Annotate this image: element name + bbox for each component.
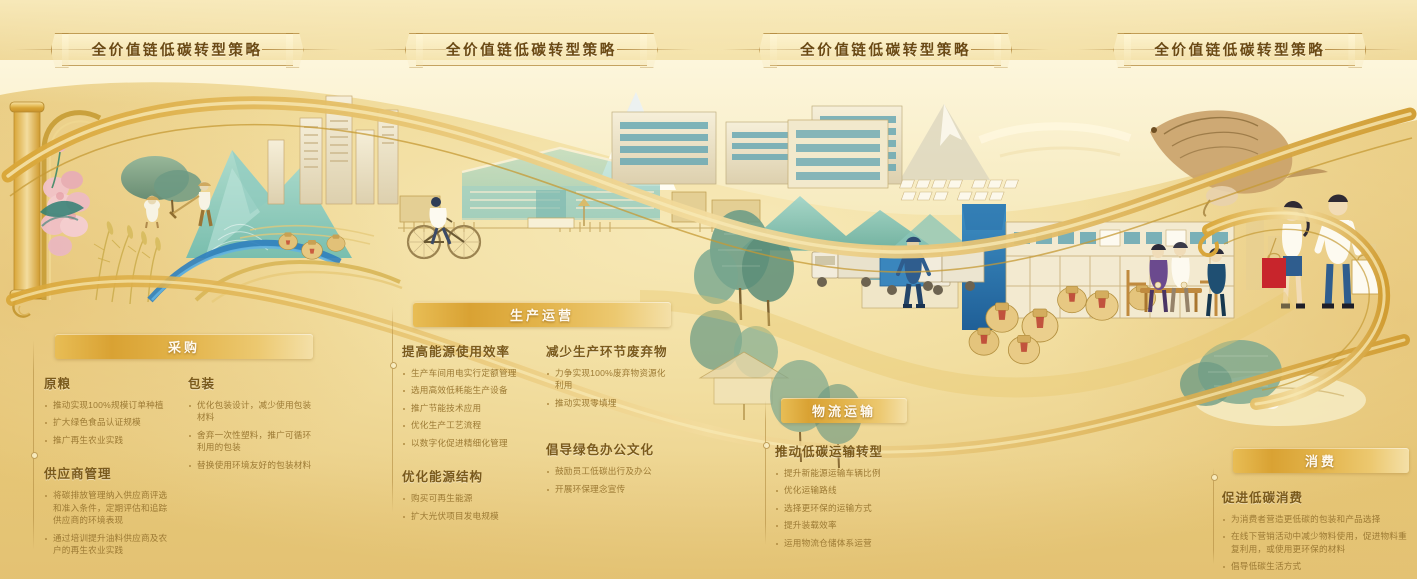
list-item: 开展环保理念宣传 bbox=[546, 483, 674, 495]
section-production: 生产运营 提高能源使用效率 生产车间用电实行定额管理 选用高效低耗能生产设备 推… bbox=[402, 302, 674, 527]
production-list-2: 力争实现100%废弃物资源化利用 推动实现零填埋 bbox=[546, 367, 674, 409]
header-plaque-4: 全价值链低碳转型策略 bbox=[1063, 28, 1417, 70]
header-plaque-label-1: 全价值链低碳转型策略 bbox=[62, 33, 293, 66]
section-logistics: 物流运输 推动低碳运输转型 提升新能源运输车辆比例 优化运输路线 选择更环保的运… bbox=[775, 398, 987, 554]
procurement-column-left: 原粮 推动实现100%规模订单种植 扩大绿色食品认证规模 推广再生农业实践 供应… bbox=[44, 373, 172, 562]
list-item: 在线下营销活动中减少物料使用，促进物料重复利用，或使用更环保的材料 bbox=[1222, 530, 1412, 555]
consumption-group-heading-0: 促进低碳消费 bbox=[1222, 487, 1412, 506]
production-list-1: 购买可再生能源 扩大光伏项目发电规模 bbox=[402, 492, 530, 522]
logistics-group-heading-0: 推动低碳运输转型 bbox=[775, 441, 987, 460]
production-rail bbox=[392, 306, 393, 512]
list-item: 替换使用环境友好的包装材料 bbox=[188, 459, 316, 471]
consumption-column: 促进低碳消费 为消费者营造更低碳的包装和产品选择 在线下营销活动中减少物料使用，… bbox=[1222, 487, 1412, 578]
header-plaque-2: 全价值链低碳转型策略 bbox=[354, 28, 708, 70]
list-item: 优化运输路线 bbox=[775, 484, 987, 496]
logistics-column: 推动低碳运输转型 提升新能源运输车辆比例 优化运输路线 选择更环保的运输方式 提… bbox=[775, 441, 987, 554]
farm-scene bbox=[121, 156, 211, 228]
production-columns: 提高能源使用效率 生产车间用电实行定额管理 选用高效低耗能生产设备 推广节能技术… bbox=[402, 341, 674, 527]
production-group-heading-0: 提高能源使用效率 bbox=[402, 341, 530, 360]
procurement-group-heading-2: 供应商管理 bbox=[44, 463, 172, 482]
consumption-title: 消费 bbox=[1305, 451, 1337, 470]
production-group-heading-1: 优化能源结构 bbox=[402, 466, 530, 485]
list-item: 推广再生农业实践 bbox=[44, 434, 172, 446]
logistics-rail-dot bbox=[763, 442, 770, 449]
header-rule-right bbox=[262, 49, 340, 50]
wheat-illustration bbox=[94, 221, 162, 304]
list-item: 优化生产工艺流程 bbox=[402, 419, 530, 431]
list-item: 推动实现100%规模订单种植 bbox=[44, 399, 172, 411]
production-rail-dot bbox=[390, 362, 397, 369]
production-title: 生产运营 bbox=[510, 305, 574, 324]
procurement-list-0: 推动实现100%规模订单种植 扩大绿色食品认证规模 推广再生农业实践 bbox=[44, 399, 172, 446]
procurement-list-2: 将碳排放管理纳入供应商评选和准入条件，定期评估和追踪供应商的环境表现 通过培训提… bbox=[44, 489, 172, 556]
list-item: 鼓励员工低碳出行及办公 bbox=[546, 465, 674, 477]
list-item: 推动实现零填埋 bbox=[546, 397, 674, 409]
list-item: 优化包装设计，减少使用包装材料 bbox=[188, 399, 316, 424]
logistics-columns: 推动低碳运输转型 提升新能源运输车辆比例 优化运输路线 选择更环保的运输方式 提… bbox=[775, 441, 987, 554]
consumption-rail bbox=[1213, 468, 1214, 564]
production-column-left: 提高能源使用效率 生产车间用电实行定额管理 选用高效低耗能生产设备 推广节能技术… bbox=[402, 341, 530, 527]
procurement-title: 采购 bbox=[168, 337, 200, 356]
farmer-figure-1 bbox=[144, 196, 160, 228]
list-item: 提升装载效率 bbox=[775, 519, 987, 531]
header-plaque-label-3: 全价值链低碳转型策略 bbox=[770, 33, 1001, 66]
procurement-rail bbox=[33, 340, 34, 550]
list-item: 扩大绿色食品认证规模 bbox=[44, 416, 172, 428]
header-plaque-label-2: 全价值链低碳转型策略 bbox=[416, 33, 647, 66]
list-item: 通过培训提升油料供应商及农户的再生农业实践 bbox=[44, 532, 172, 557]
header-plaque-label-4: 全价值链低碳转型策略 bbox=[1124, 33, 1355, 66]
list-item: 选用高效低耗能生产设备 bbox=[402, 384, 530, 396]
header-plaque-3: 全价值链低碳转型策略 bbox=[709, 28, 1063, 70]
header-ribbon-row: 全价值链低碳转型策略 全价值链低碳转型策略 全价值链低碳转型策略 全价值链低碳转… bbox=[0, 28, 1417, 70]
production-group-heading-2: 减少生产环节废弃物 bbox=[546, 341, 674, 360]
logistics-title-bar: 物流运输 bbox=[781, 398, 907, 423]
procurement-columns: 原粮 推动实现100%规模订单种植 扩大绿色食品认证规模 推广再生农业实践 供应… bbox=[44, 373, 316, 562]
section-consumption: 消费 促进低碳消费 为消费者营造更低碳的包装和产品选择 在线下营销活动中减少物料… bbox=[1222, 448, 1412, 578]
production-list-3: 鼓励员工低碳出行及办公 开展环保理念宣传 bbox=[546, 465, 674, 495]
section-procurement: 采购 原粮 推动实现100%规模订单种植 扩大绿色食品认证规模 推广再生农业实践… bbox=[44, 334, 316, 562]
header-rule-right bbox=[617, 49, 695, 50]
consumption-rail-dot bbox=[1211, 474, 1218, 481]
procurement-list-1: 优化包装设计，减少使用包装材料 舍弃一次性塑料，推广可循环利用的包装 替换使用环… bbox=[188, 399, 316, 471]
header-rule-right bbox=[971, 49, 1049, 50]
list-item: 为消费者营造更低碳的包装和产品选择 bbox=[1222, 513, 1412, 525]
list-item: 倡导低碳生活方式 bbox=[1222, 560, 1412, 572]
infographic-canvas: 全价值链低碳转型策略 全价值链低碳转型策略 全价值链低碳转型策略 全价值链低碳转… bbox=[0, 0, 1417, 579]
list-item: 生产车间用电实行定额管理 bbox=[402, 367, 530, 379]
procurement-rail-dot bbox=[31, 452, 38, 459]
consumption-list-0: 为消费者营造更低碳的包装和产品选择 在线下营销活动中减少物料使用，促进物料重复利… bbox=[1222, 513, 1412, 573]
list-item: 推广节能技术应用 bbox=[402, 402, 530, 414]
procurement-group-heading-1: 包装 bbox=[188, 373, 316, 392]
logistics-list-0: 提升新能源运输车辆比例 优化运输路线 选择更环保的运输方式 提升装载效率 运用物… bbox=[775, 467, 987, 549]
procurement-group-heading-0: 原粮 bbox=[44, 373, 172, 392]
list-item: 扩大光伏项目发电规模 bbox=[402, 510, 530, 522]
list-item: 运用物流仓储体系运营 bbox=[775, 537, 987, 549]
header-rule-right bbox=[1325, 49, 1403, 50]
production-list-0: 生产车间用电实行定额管理 选用高效低耗能生产设备 推广节能技术应用 优化生产工艺… bbox=[402, 367, 530, 449]
procurement-title-bar: 采购 bbox=[55, 334, 313, 359]
logistics-title: 物流运输 bbox=[812, 401, 876, 420]
list-item: 以数字化促进精细化管理 bbox=[402, 437, 530, 449]
list-item: 购买可再生能源 bbox=[402, 492, 530, 504]
list-item: 提升新能源运输车辆比例 bbox=[775, 467, 987, 479]
header-plaque-1: 全价值链低碳转型策略 bbox=[0, 28, 354, 70]
consumption-columns: 促进低碳消费 为消费者营造更低碳的包装和产品选择 在线下营销活动中减少物料使用，… bbox=[1222, 487, 1412, 578]
production-title-bar: 生产运营 bbox=[413, 302, 671, 327]
list-item: 选择更环保的运输方式 bbox=[775, 502, 987, 514]
consumption-title-bar: 消费 bbox=[1233, 448, 1409, 473]
procurement-column-right: 包装 优化包装设计，减少使用包装材料 舍弃一次性塑料，推广可循环利用的包装 替换… bbox=[188, 373, 316, 562]
list-item: 舍弃一次性塑料，推广可循环利用的包装 bbox=[188, 429, 316, 454]
logistics-rail bbox=[765, 400, 766, 545]
production-column-right: 减少生产环节废弃物 力争实现100%废弃物资源化利用 推动实现零填埋 倡导绿色办… bbox=[546, 341, 674, 527]
production-group-heading-3: 倡导绿色办公文化 bbox=[546, 439, 674, 458]
list-item: 将碳排放管理纳入供应商评选和准入条件，定期评估和追踪供应商的环境表现 bbox=[44, 489, 172, 526]
list-item: 力争实现100%废弃物资源化利用 bbox=[546, 367, 674, 392]
